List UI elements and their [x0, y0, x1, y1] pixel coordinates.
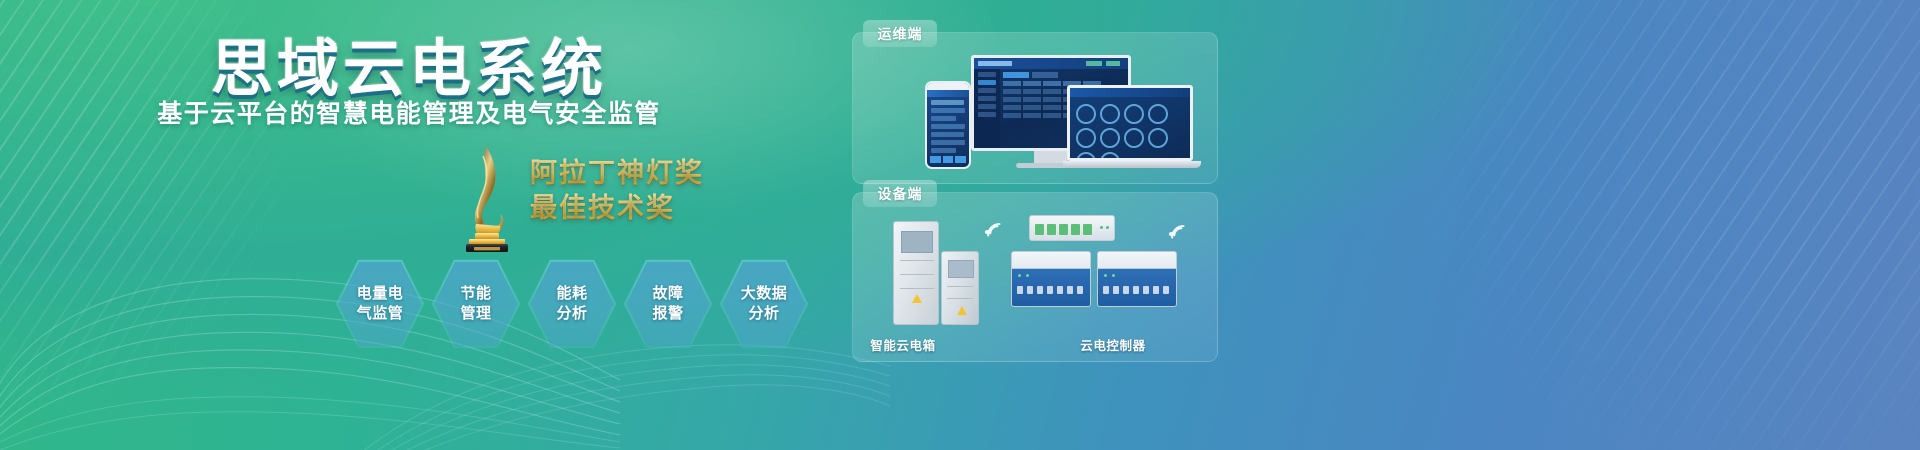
trophy-icon [452, 140, 522, 252]
device-controller-left [1011, 251, 1091, 307]
feature-tag-0-line1: 电量电 [357, 285, 404, 302]
feature-tag-2[interactable]: 能耗分析 [528, 258, 616, 350]
feature-tag-0[interactable]: 电量电气监管 [336, 258, 424, 350]
cabinet-secondary-window [948, 260, 974, 278]
warning-icon-2 [957, 306, 967, 315]
feature-tag-4-line2: 分析 [748, 305, 779, 322]
diagonal-hatch-right [1280, 0, 1920, 450]
feature-tag-2-line1: 能耗 [556, 285, 587, 302]
caption-controller: 云电控制器 [931, 335, 1295, 354]
panel-ops-label: 运维端 [863, 20, 937, 47]
wifi-icon-cabinet [979, 215, 1003, 237]
laptop-base [1063, 161, 1201, 168]
panel-device-label: 设备端 [863, 180, 937, 207]
feature-tag-0-line2: 气监管 [357, 305, 404, 322]
feature-tag-3-line2: 报警 [652, 305, 683, 322]
page-subtitle: 基于云平台的智慧电能管理及电气安全监管 [0, 94, 818, 130]
cabinet-window [901, 231, 933, 253]
feature-tag-3-line1: 故障 [652, 285, 683, 302]
panel-ops: 运维端 [852, 32, 1218, 184]
cabinet-secondary [941, 251, 979, 325]
device-controller-top [1029, 215, 1115, 241]
phone-screen [925, 81, 971, 169]
banner-left-content: 思域云电系统 基于云平台的智慧电能管理及电气安全监管 [0, 0, 860, 450]
feature-tag-2-line2: 分析 [556, 305, 587, 322]
promo-banner: 思域云电系统 基于云平台的智慧电能管理及电气安全监管 [0, 0, 1920, 450]
device-controller-right [1097, 251, 1177, 307]
device-smart-cabinet [889, 221, 985, 327]
device-phone [925, 81, 971, 169]
feature-tag-1[interactable]: 节能管理 [432, 258, 520, 350]
panel-device: 设备端 [852, 192, 1218, 362]
feature-tag-1-line1: 节能 [460, 285, 491, 302]
award-line-2: 最佳技术奖 [530, 191, 704, 226]
product-panels: 运维端 [852, 18, 1224, 438]
cabinet-main [893, 221, 939, 325]
award-block: 阿拉丁神灯奖 最佳技术奖 [452, 140, 812, 255]
award-line-1: 阿拉丁神灯奖 [530, 156, 704, 191]
wifi-icon-controller [1163, 217, 1187, 239]
laptop-screen [1067, 85, 1193, 161]
device-laptop [1063, 85, 1201, 168]
feature-tag-1-line2: 管理 [460, 305, 491, 322]
award-text: 阿拉丁神灯奖 最佳技术奖 [530, 156, 704, 225]
feature-tag-4-line1: 大数据 [741, 285, 788, 302]
feature-tag-3[interactable]: 故障报警 [624, 258, 712, 350]
warning-icon [912, 294, 922, 303]
